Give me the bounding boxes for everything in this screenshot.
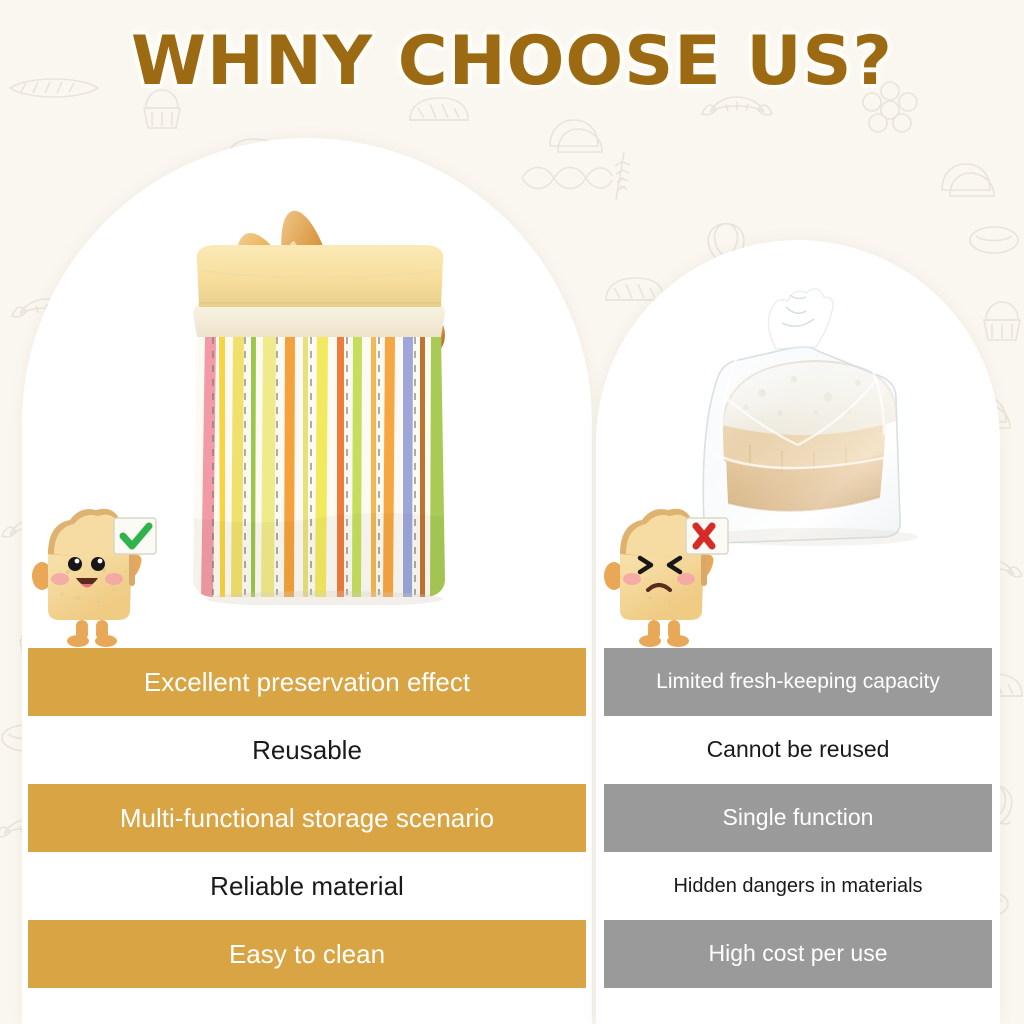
list-item: Cannot be reused	[604, 716, 992, 784]
list-item: Multi-functional storage scenario	[28, 784, 586, 852]
infographic-canvas: WHNY CHOOSE US?	[0, 0, 1024, 1024]
list-item: Limited fresh-keeping capacity	[604, 648, 992, 716]
left-feature-list: Excellent preservation effect Reusable M…	[28, 648, 586, 988]
feature-label: Excellent preservation effect	[134, 668, 480, 697]
list-item: Reliable material	[28, 852, 586, 920]
right-feature-list: Limited fresh-keeping capacity Cannot be…	[604, 648, 992, 988]
feature-label: Single function	[713, 805, 884, 830]
happy-bread-mascot	[28, 498, 158, 648]
list-item: Easy to clean	[28, 920, 586, 988]
feature-label: Limited fresh-keeping capacity	[646, 670, 950, 693]
striped-fabric-bread-bag-image	[175, 185, 465, 605]
list-item: High cost per use	[604, 920, 992, 988]
list-item: Single function	[604, 784, 992, 852]
feature-label: Hidden dangers in materials	[663, 875, 932, 897]
feature-label: Reliable material	[200, 872, 414, 901]
feature-label: High cost per use	[699, 941, 898, 966]
list-item: Reusable	[28, 716, 586, 784]
feature-label: Reusable	[242, 736, 372, 765]
feature-label: Easy to clean	[219, 940, 395, 969]
feature-label: Cannot be reused	[697, 737, 900, 762]
feature-label: Multi-functional storage scenario	[110, 804, 504, 833]
list-item: Hidden dangers in materials	[604, 852, 992, 920]
sad-bread-mascot	[600, 498, 730, 648]
list-item: Excellent preservation effect	[28, 648, 586, 716]
page-title: WHNY CHOOSE US?	[0, 22, 1024, 101]
